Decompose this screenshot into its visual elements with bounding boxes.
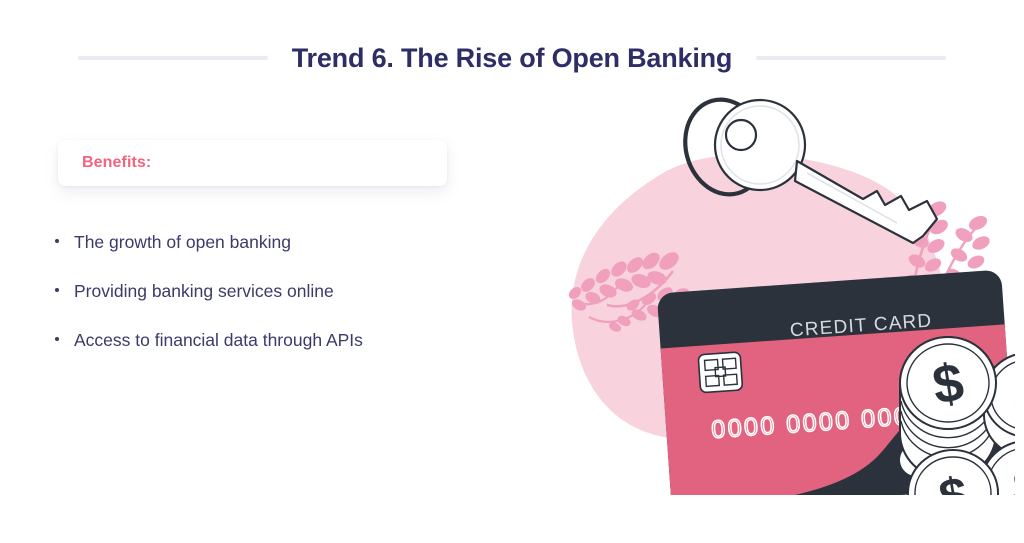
benefits-card: Benefits: [58, 140, 447, 186]
svg-text:$: $ [1013, 459, 1015, 495]
svg-text:$: $ [1014, 368, 1015, 424]
list-item-label: Access to financial data through APIs [74, 330, 363, 351]
bullet-dot-icon [55, 288, 59, 292]
benefits-card-title: Benefits: [82, 154, 151, 172]
benefits-section: Benefits: The growth of open banking Pro… [0, 140, 520, 379]
decorative-rule-left-icon [78, 56, 268, 60]
page-header: Trend 6. The Rise of Open Banking [0, 36, 1024, 80]
benefits-list: The growth of open banking Providing ban… [55, 232, 520, 351]
list-item: The growth of open banking [55, 232, 520, 253]
list-item-label: The growth of open banking [74, 232, 291, 253]
page-title: Trend 6. The Rise of Open Banking [292, 43, 732, 74]
decorative-rule-right-icon [756, 56, 946, 60]
list-item: Providing banking services online [55, 281, 520, 302]
bullet-dot-icon [55, 239, 59, 243]
bullet-dot-icon [55, 337, 59, 341]
list-item-label: Providing banking services online [74, 281, 334, 302]
open-banking-illustration: $ CREDIT CARD 0000 0000 0000 0000 [545, 95, 1015, 495]
card-chip-icon [698, 352, 743, 393]
list-item: Access to financial data through APIs [55, 330, 520, 351]
